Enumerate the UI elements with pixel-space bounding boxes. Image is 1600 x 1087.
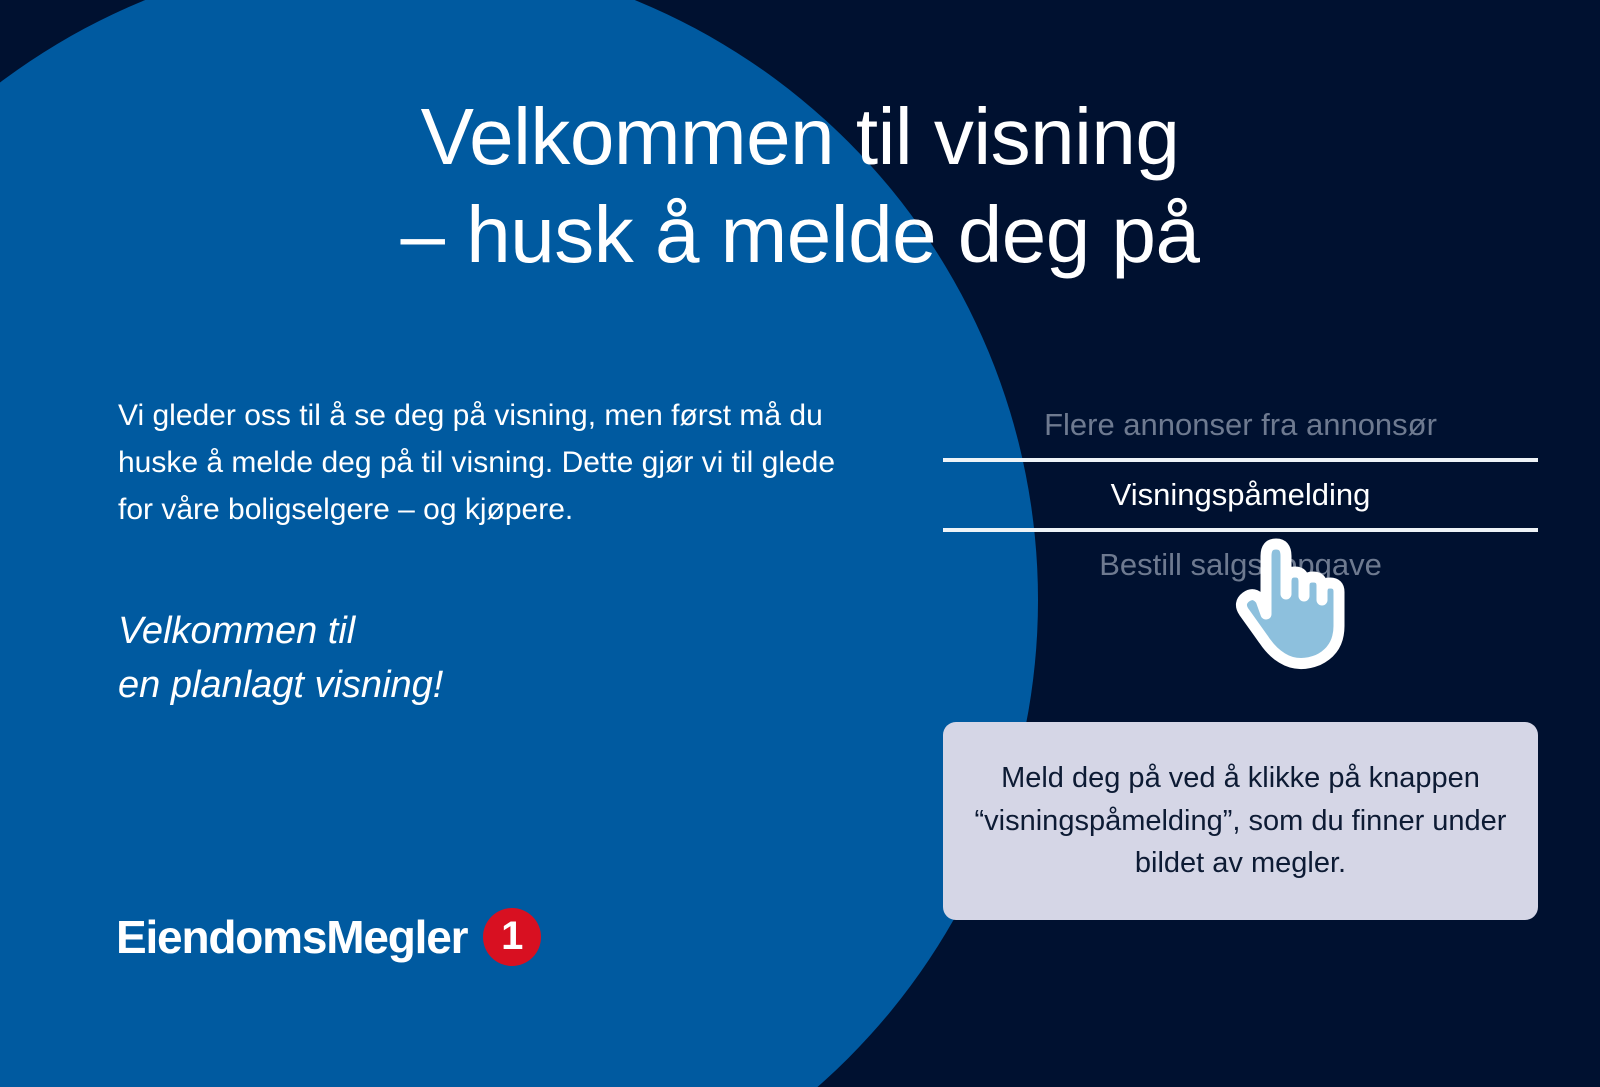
logo-wordmark: EiendomsMegler [116, 914, 467, 960]
body-paragraph: Vi gleder oss til å se deg på visning, m… [118, 393, 878, 533]
logo-number-badge: 1 [483, 908, 541, 966]
menu-item-flere-annonser[interactable]: Flere annonser fra annonsør [943, 392, 1538, 458]
menu-item-visningspamelding[interactable]: Visningspåmelding [943, 462, 1538, 528]
instruction-callout: Meld deg på ved å klikke på knappen “vis… [943, 722, 1538, 920]
pointing-hand-cursor [1232, 522, 1362, 670]
left-content-column: Vi gleder oss til å se deg på visning, m… [118, 393, 878, 713]
page-title: Velkommen til visning – husk å melde deg… [0, 88, 1600, 283]
slide-canvas: Velkommen til visning – husk å melde deg… [0, 0, 1600, 1087]
instruction-callout-text: Meld deg på ved å klikke på knappen “vis… [967, 757, 1514, 886]
welcome-italic-text: Velkommen til en planlagt visning! [118, 605, 878, 713]
eiendomsmegler-logo: EiendomsMegler 1 [116, 908, 541, 966]
